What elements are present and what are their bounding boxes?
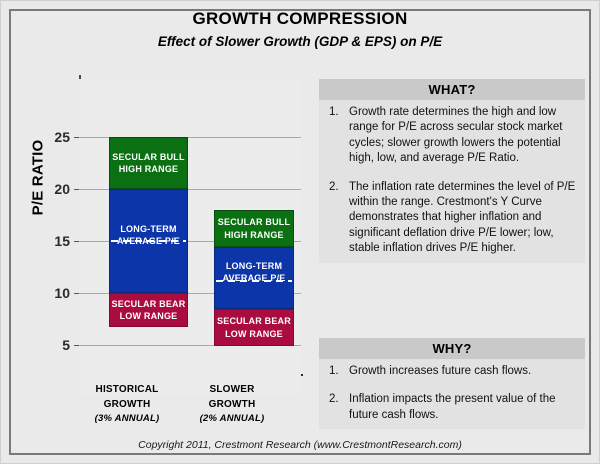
x-label-annual: (3% ANNUAL) bbox=[69, 412, 185, 426]
segment-bull-historical: SECULAR BULL HIGH RANGE bbox=[109, 137, 188, 189]
x-axis-label-historical: HISTORICAL GROWTH (3% ANNUAL) bbox=[69, 383, 185, 426]
list-item-text: The inflation rate determines the level … bbox=[349, 180, 577, 257]
list-item-number: 1. bbox=[326, 364, 349, 379]
list-item: 2. The inflation rate determines the lev… bbox=[326, 180, 577, 257]
title-block: GROWTH COMPRESSION Effect of Slower Grow… bbox=[1, 9, 599, 49]
plot-area: 25 20 15 10 5 SECULAR BULL bbox=[79, 79, 301, 394]
bar-slower-growth[interactable]: SECULAR BULL HIGH RANGE LONG-TERM AVERAG… bbox=[214, 210, 294, 346]
list-item-text: Growth rate determines the high and low … bbox=[349, 105, 577, 167]
copyright-footer: Copyright 2011, Crestmont Research (www.… bbox=[1, 439, 599, 451]
pe-ratio-chart: P/E RATIO 25 20 15 10 5 bbox=[11, 61, 311, 441]
x-label-line2: GROWTH bbox=[174, 398, 290, 413]
segment-bear-historical: SECULAR BEAR LOW RANGE bbox=[109, 293, 188, 327]
list-item-number: 2. bbox=[326, 180, 349, 257]
tick-mark-25 bbox=[74, 137, 79, 138]
tick-mark-5 bbox=[74, 345, 79, 346]
tick-mark-15 bbox=[74, 241, 79, 242]
panel-what: WHAT? 1. Growth rate determines the high… bbox=[319, 79, 585, 263]
segment-bull-label-line1: SECULAR BULL bbox=[218, 216, 290, 228]
list-item: 2. Inflation impacts the present value o… bbox=[326, 392, 577, 423]
segment-bull-label-line1: SECULAR BULL bbox=[112, 151, 184, 163]
panel-why-header: WHY? bbox=[319, 338, 585, 359]
segment-bear-label-line1: SECULAR BEAR bbox=[217, 315, 291, 327]
tick-label-20: 20 bbox=[54, 181, 70, 197]
panel-what-header: WHAT? bbox=[319, 79, 585, 100]
list-item: 1. Growth increases future cash flows. bbox=[326, 364, 577, 379]
list-item-number: 1. bbox=[326, 105, 349, 167]
segment-middle-slower: LONG-TERM AVERAGE P/E bbox=[214, 247, 294, 309]
tick-label-10: 10 bbox=[54, 285, 70, 301]
segment-bull-label-line2: HIGH RANGE bbox=[224, 229, 284, 241]
average-pe-dashed-line-historical bbox=[111, 240, 186, 242]
page-subtitle: Effect of Slower Growth (GDP & EPS) on P… bbox=[1, 34, 599, 49]
segment-bull-slower: SECULAR BULL HIGH RANGE bbox=[214, 210, 294, 247]
panel-why: WHY? 1. Growth increases future cash flo… bbox=[319, 338, 585, 429]
tick-mark-10 bbox=[74, 293, 79, 294]
average-pe-dashed-line-slower bbox=[216, 280, 292, 282]
page-title: GROWTH COMPRESSION bbox=[1, 9, 599, 29]
tick-label-25: 25 bbox=[54, 129, 70, 145]
bar-historical-growth[interactable]: SECULAR BULL HIGH RANGE LONG-TERM AVERAG… bbox=[109, 137, 188, 293]
x-label-line2: GROWTH bbox=[69, 398, 185, 413]
tick-label-15: 15 bbox=[54, 233, 70, 249]
segment-bear-label-line2: LOW RANGE bbox=[225, 328, 283, 340]
panel-why-body: 1. Growth increases future cash flows. 2… bbox=[319, 359, 585, 429]
x-label-line1: HISTORICAL bbox=[69, 383, 185, 398]
x-label-line1: SLOWER bbox=[174, 383, 290, 398]
x-axis-label-slower: SLOWER GROWTH (2% ANNUAL) bbox=[174, 383, 290, 426]
tick-label-5: 5 bbox=[62, 337, 70, 353]
panel-what-body: 1. Growth rate determines the high and l… bbox=[319, 100, 585, 263]
segment-mid-label-line2: AVERAGE P/E bbox=[222, 272, 285, 284]
segment-bear-label-line1: SECULAR BEAR bbox=[112, 298, 186, 310]
segment-mid-label-line1: LONG-TERM bbox=[120, 223, 176, 235]
tick-mark-20 bbox=[74, 189, 79, 190]
list-item-number: 2. bbox=[326, 392, 349, 423]
segment-bear-slower: SECULAR BEAR LOW RANGE bbox=[214, 309, 294, 346]
slide-canvas: GROWTH COMPRESSION Effect of Slower Grow… bbox=[0, 0, 600, 464]
list-item-text: Growth increases future cash flows. bbox=[349, 364, 577, 379]
segment-middle-historical: LONG-TERM AVERAGE P/E bbox=[109, 189, 188, 293]
list-item: 1. Growth rate determines the high and l… bbox=[326, 105, 577, 167]
segment-mid-label-line1: LONG-TERM bbox=[226, 260, 282, 272]
x-label-annual: (2% ANNUAL) bbox=[174, 412, 290, 426]
segment-bull-label-line2: HIGH RANGE bbox=[119, 163, 179, 175]
y-axis-title: P/E RATIO bbox=[30, 103, 47, 253]
segment-bear-label-line2: LOW RANGE bbox=[120, 310, 178, 322]
list-item-text: Inflation impacts the present value of t… bbox=[349, 392, 577, 423]
